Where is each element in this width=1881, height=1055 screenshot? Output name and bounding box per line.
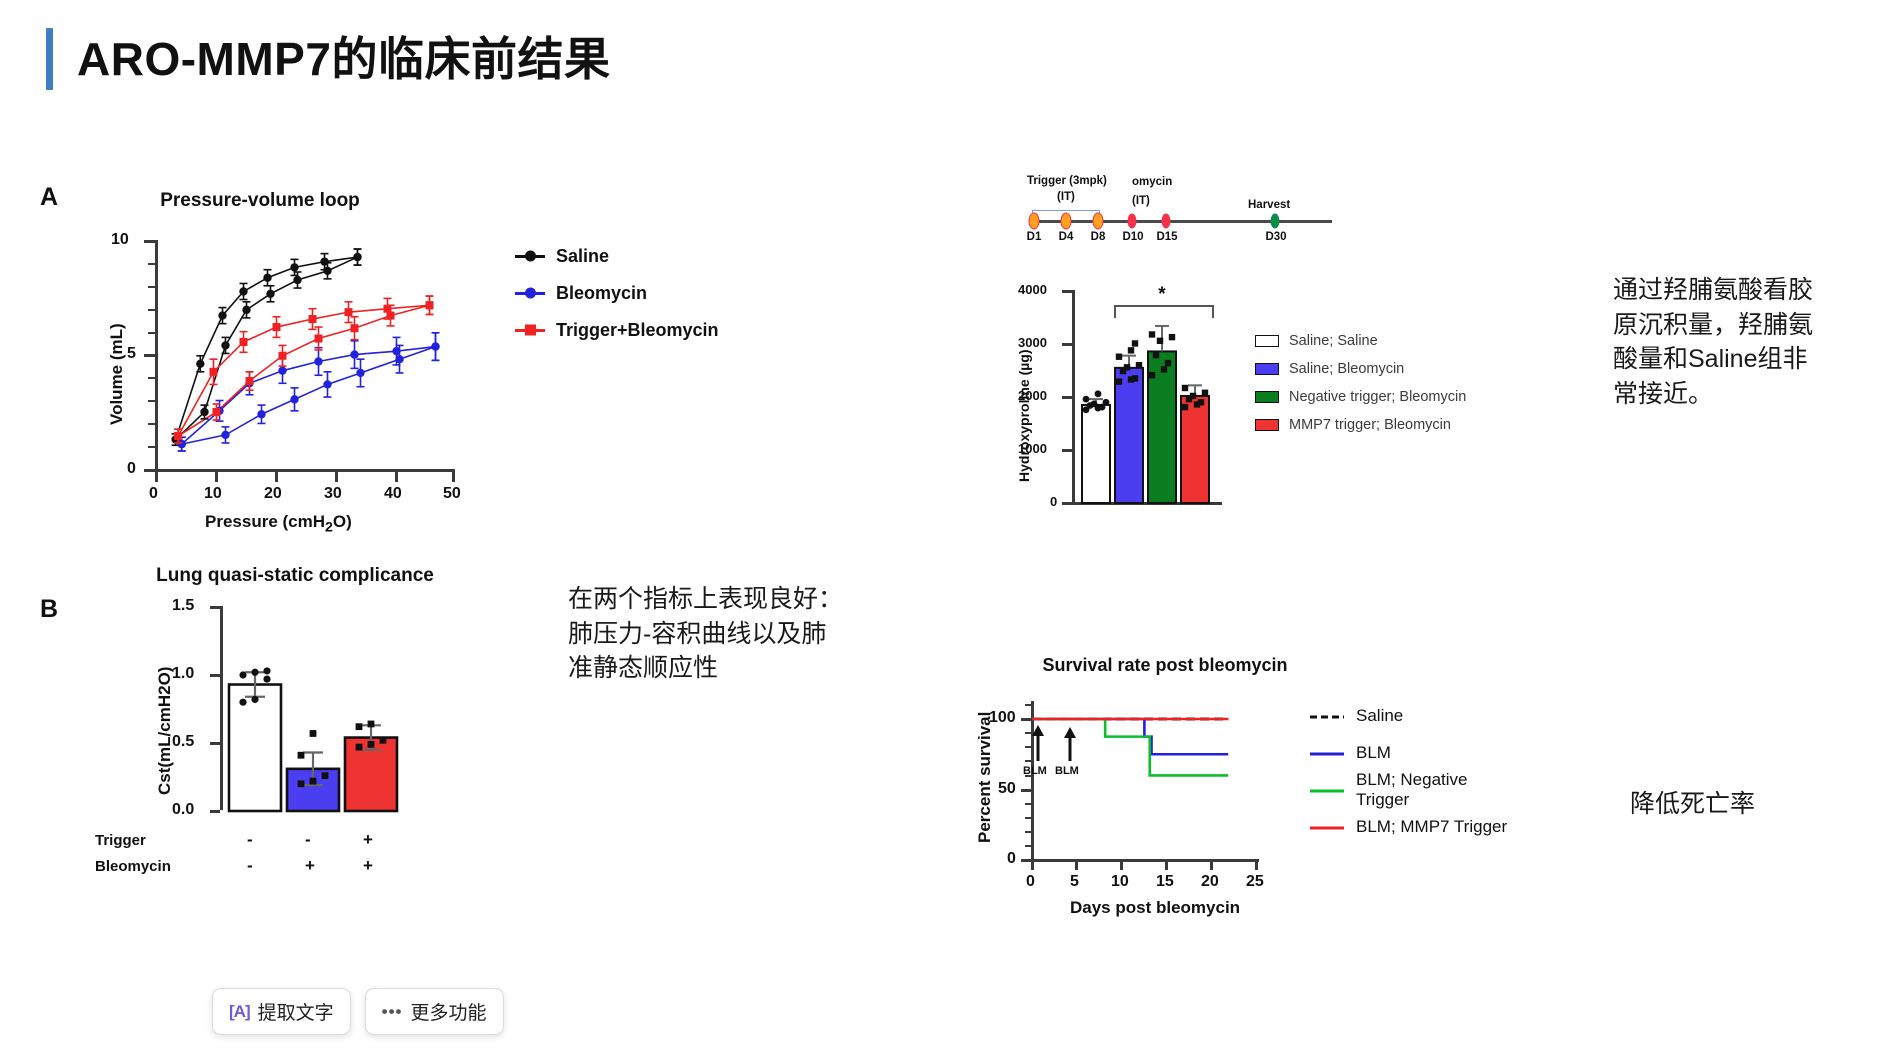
cell-trigger-1: - — [247, 830, 253, 850]
legend-key-saline-saline — [1255, 335, 1279, 347]
legend-key-blm-negative-trigger — [1310, 788, 1344, 792]
legend-label: Negative trigger; Bleomycin — [1289, 389, 1466, 405]
timeline-node-d4 — [1061, 213, 1072, 230]
cell-bleomycin-1: - — [247, 856, 253, 876]
timeline-day-label: D8 — [1091, 231, 1106, 243]
x-tick-label: 0 — [149, 485, 158, 503]
study-timeline: Trigger (3mpk) (IT) omycin (IT) Harvest … — [1020, 170, 1350, 250]
timeline-day-label: D4 — [1059, 231, 1074, 243]
legend-label: Trigger+Bleomycin — [556, 320, 719, 341]
survival-data-layer — [965, 693, 1285, 893]
legend-label: Saline; Bleomycin — [1289, 361, 1404, 377]
timeline-annotation-harvest: Harvest — [1248, 199, 1290, 211]
chart-legend: Saline; Saline Saline; Bleomycin Negativ… — [1255, 330, 1466, 442]
legend-key-negative-trigger — [1255, 391, 1279, 403]
compliance-data-layer — [95, 600, 415, 816]
timeline-day-label: D30 — [1265, 231, 1286, 243]
legend-item: BLM — [1310, 740, 1525, 766]
chart-title: Lung quasi-static complicance — [95, 565, 495, 587]
pv-data-layer — [95, 230, 515, 480]
legend-item: Trigger+Bleomycin — [515, 316, 719, 344]
legend-key-saline — [1310, 714, 1344, 718]
timeline-annotation-trigger: Trigger (3mpk) — [1027, 175, 1107, 187]
floating-toolbar[interactable]: [A] 提取文字 ••• 更多功能 — [212, 988, 504, 1035]
legend-marker-trigger-bleomycin — [515, 329, 545, 332]
timeline-day-label: D15 — [1156, 231, 1177, 243]
x-tick-label: 40 — [384, 485, 402, 503]
timeline-node-d8 — [1093, 213, 1104, 230]
extract-text-label: 提取文字 — [258, 998, 334, 1025]
plot-area: 1.5 1.0 0.5 0.0 Cst(mL/cmH2O) Trigger Bl… — [95, 600, 525, 855]
legend-label: Saline — [556, 246, 609, 267]
annotation-metrics: 在两个指标上表现良好： 肺压力-容积曲线以及肺 准静态顺应性 — [568, 582, 928, 686]
x-tick-label: 50 — [443, 485, 461, 503]
legend-item: Bleomycin — [515, 279, 719, 307]
title-text: ARO-MMP7的临床前结果 — [77, 36, 610, 82]
legend-label: BLM; Negative Trigger — [1356, 770, 1525, 810]
timeline-node-d30 — [1271, 214, 1280, 229]
timeline-node-d15 — [1162, 214, 1171, 229]
legend-item: Saline; Saline — [1255, 330, 1466, 352]
title-accent-bar — [46, 28, 53, 90]
legend-label: MMP7 trigger; Bleomycin — [1289, 417, 1451, 433]
x-tick-label: 10 — [204, 485, 222, 503]
legend-item: Negative trigger; Bleomycin — [1255, 386, 1466, 408]
chart-hydroxyproline: 4000 3000 2000 1000 0 Hydroxyproline (µg… — [1010, 282, 1530, 562]
legend-item: Saline — [515, 242, 719, 270]
legend-label: BLM — [1356, 743, 1391, 763]
chart-survival: Survival rate post bleomycin 100 50 0 — [965, 655, 1525, 945]
timeline-node-d10 — [1128, 214, 1137, 229]
timeline-annotation-trigger-route: (IT) — [1057, 191, 1075, 203]
x-axis-title: Days post bleomycin — [1070, 898, 1240, 918]
chart-legend: Saline Bleomycin Trigger+Bleomycin — [515, 242, 719, 353]
legend-marker-saline — [515, 255, 545, 258]
chart-pressure-volume-loop: Pressure-volume loop 10 5 0 — [95, 190, 655, 500]
legend-marker-bleomycin — [515, 292, 545, 295]
extract-text-button[interactable]: [A] 提取文字 — [212, 988, 351, 1035]
legend-item: MMP7 trigger; Bleomycin — [1255, 414, 1466, 436]
legend-item: BLM; Negative Trigger — [1310, 777, 1525, 803]
legend-key-saline-bleomycin — [1255, 363, 1279, 375]
row-label-trigger: Trigger — [95, 832, 146, 849]
cell-bleomycin-3: + — [363, 856, 373, 876]
more-functions-label: 更多功能 — [410, 998, 486, 1025]
page-title: ARO-MMP7的临床前结果 — [46, 28, 610, 90]
legend-label: Saline — [1356, 706, 1403, 726]
chart-legend: Saline BLM BLM; Negative Trigger BLM; MM… — [1310, 703, 1525, 851]
brackets-a-icon: [A] — [229, 1002, 250, 1022]
legend-item: BLM; MMP7 Trigger — [1310, 814, 1525, 840]
legend-key-mmp7-trigger — [1255, 419, 1279, 431]
timeline-day-label: D10 — [1122, 231, 1143, 243]
timeline-node-d1 — [1029, 213, 1040, 230]
legend-item: Saline — [1310, 703, 1525, 729]
legend-label: Saline; Saline — [1289, 333, 1378, 349]
timeline-day-label: D1 — [1027, 231, 1042, 243]
chart-lung-compliance: Lung quasi-static complicance 1.5 1.0 0.… — [95, 565, 525, 855]
legend-label: Bleomycin — [556, 283, 647, 304]
legend-item: Saline; Bleomycin — [1255, 358, 1466, 380]
panel-letter-a: A — [40, 183, 58, 212]
hydroxyproline-data-layer — [1010, 282, 1250, 514]
timeline-axis — [1032, 220, 1332, 223]
legend-key-blm-mmp7-trigger — [1310, 825, 1344, 829]
x-tick-label: 30 — [324, 485, 342, 503]
panel-letter-b: B — [40, 595, 58, 624]
annotation-survival: 降低死亡率 — [1630, 787, 1755, 822]
cell-bleomycin-2: + — [305, 856, 315, 876]
annotation-hydroxyproline: 通过羟脯氨酸看胶 原沉积量，羟脯氨 酸量和Saline组非 常接近。 — [1613, 273, 1863, 411]
cell-trigger-3: + — [363, 830, 373, 850]
x-tick-label: 20 — [264, 485, 282, 503]
x-axis-title: Pressure (cmH2O) — [205, 512, 352, 535]
slide-canvas: ARO-MMP7的临床前结果 A B Pressure-volume loop … — [0, 0, 1881, 1055]
cell-trigger-2: - — [305, 830, 311, 850]
row-label-bleomycin: Bleomycin — [95, 858, 171, 875]
chart-title: Survival rate post bleomycin — [965, 655, 1365, 676]
legend-label: BLM; MMP7 Trigger — [1356, 817, 1507, 837]
timeline-annotation-bleomycin-route: (IT) — [1132, 195, 1150, 207]
chart-title: Pressure-volume loop — [95, 190, 425, 212]
dots-icon: ••• — [382, 1002, 403, 1022]
timeline-annotation-bleomycin: omycin — [1132, 176, 1172, 188]
legend-key-blm — [1310, 751, 1344, 755]
more-functions-button[interactable]: ••• 更多功能 — [365, 988, 504, 1035]
